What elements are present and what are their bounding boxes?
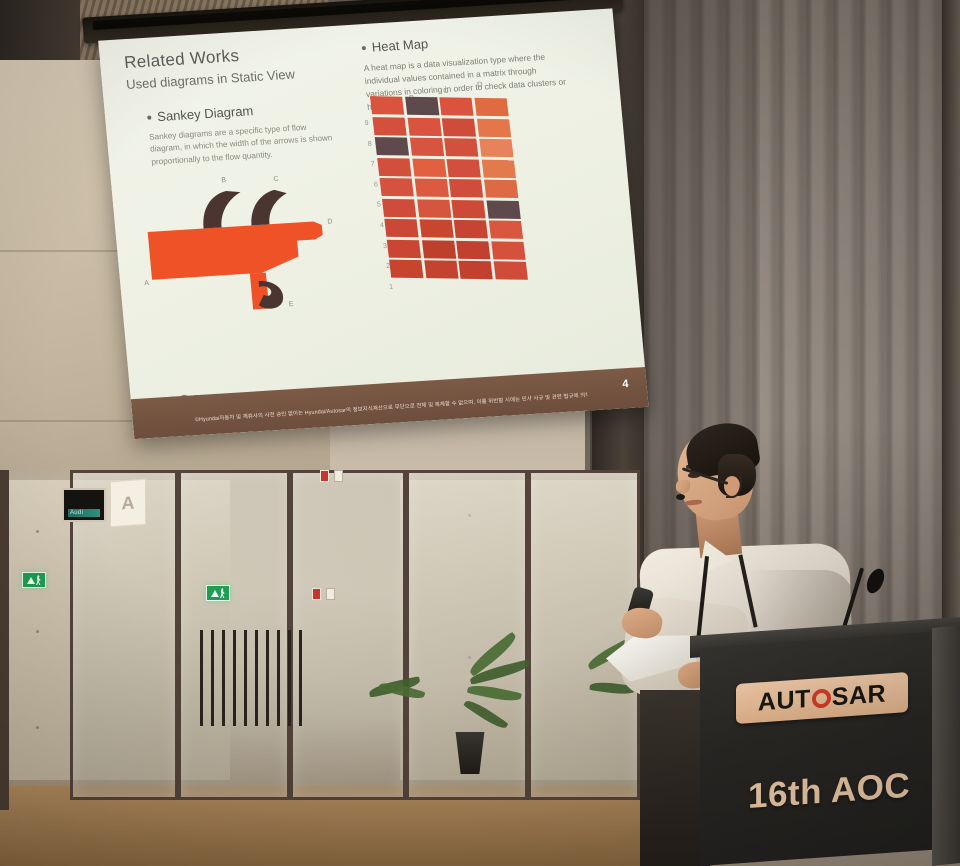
exit-arrow-icon — [211, 590, 219, 597]
heatmap-cell — [454, 220, 488, 238]
podium-logo-text: AUT SAR — [758, 679, 886, 717]
sankey-node-b-label: B — [221, 177, 226, 184]
running-man-icon — [36, 575, 41, 585]
podium-logo-ring-icon — [812, 688, 831, 708]
podium-side-panel — [932, 625, 960, 866]
heatmap-cell — [442, 118, 476, 136]
sankey-node-e-label: E — [289, 301, 294, 308]
running-man-icon — [220, 588, 225, 598]
heatmap-cell — [414, 178, 448, 196]
monitor-label: Audi — [68, 509, 100, 517]
heatmap-cell — [493, 261, 527, 279]
sankey-node-d-label: D — [327, 218, 333, 225]
heatmap-cell — [382, 198, 416, 216]
slide-copyright-text: ©Hyundai자동차 및 제휴사의 사전 승인 없이는 Hyundai/Aut… — [194, 391, 587, 424]
sankey-heading-label: Sankey Diagram — [157, 103, 254, 124]
heatmap-cell — [380, 178, 414, 196]
heatmap-cell — [372, 117, 406, 135]
heatmap-cell — [377, 158, 411, 176]
heatmap-cell — [481, 159, 515, 177]
heatmap-row-label: 9 — [364, 120, 369, 127]
heatmap-row-label: 8 — [367, 140, 372, 147]
concrete-tie-hole — [36, 530, 39, 533]
sankey-branch-b — [200, 190, 243, 228]
heatmap-cell — [370, 96, 404, 114]
heatmap-cell — [439, 97, 473, 115]
heatmap-cell — [389, 260, 423, 278]
heatmap-cell — [444, 138, 478, 156]
heatmap-cell — [407, 117, 441, 135]
fire-alarm-box — [312, 588, 321, 600]
lobby-area — [0, 470, 640, 866]
podium-logo-right: SAR — [832, 679, 886, 712]
heatmap-cell — [479, 139, 513, 157]
heatmap-row-label: 6 — [374, 181, 379, 188]
heatmap-heading-label: Heat Map — [371, 36, 429, 54]
wall-switch-box — [334, 470, 343, 482]
podium-logo-left: AUT — [758, 684, 811, 717]
heatmap-row-label: 4 — [380, 222, 385, 229]
bullet-icon — [147, 115, 151, 119]
heatmap-cell — [484, 180, 518, 198]
heatmap-cell — [449, 179, 483, 197]
slide-title: Related Works — [123, 46, 240, 73]
heatmap-column-label: C — [443, 86, 449, 95]
headset-mic-capsule-icon — [676, 494, 685, 500]
heatmap-cell — [486, 200, 520, 218]
slide-footer-bar: ©Hyundai자동차 및 제휴사의 사전 승인 없이는 Hyundai/Aut… — [131, 367, 649, 439]
emergency-exit-sign — [22, 572, 46, 588]
presentation-photo: Audi A Related Works Used diagrams in St… — [0, 0, 960, 866]
heatmap-cell — [491, 241, 525, 259]
heatmap-cell — [488, 220, 522, 238]
emergency-exit-sign — [206, 585, 230, 601]
presentation-slide: Related Works Used diagrams in Static Vi… — [98, 8, 648, 439]
heatmap-heading: Heat Map — [361, 36, 429, 55]
heatmap-cell — [474, 98, 508, 116]
heatmap-cell — [384, 219, 418, 237]
heatmap-row-label: 1 — [389, 283, 394, 290]
heatmap-cell — [417, 199, 451, 217]
heatmap-cell — [421, 240, 455, 258]
heatmap-cell — [456, 240, 490, 258]
heatmap-cell — [419, 219, 453, 237]
presenter-nose — [676, 480, 690, 493]
heatmap-cell — [424, 260, 458, 278]
sankey-heading: Sankey Diagram — [147, 103, 254, 125]
concrete-tie-hole — [36, 726, 39, 729]
sankey-branch-c — [248, 189, 289, 225]
fire-alarm-box — [320, 470, 329, 482]
bullet-icon — [362, 45, 366, 49]
slide-page-number: 4 — [622, 378, 629, 390]
heatmap-cell — [412, 158, 446, 176]
info-monitor: Audi — [62, 488, 106, 522]
sankey-diagram: A B C D E — [142, 175, 369, 323]
projection-screen: Related Works Used diagrams in Static Vi… — [78, 0, 659, 476]
sankey-svg — [142, 175, 369, 323]
heatmap-cell — [476, 118, 510, 136]
heatmap-cell — [405, 97, 439, 115]
heatmap-grid — [370, 96, 527, 280]
heatmap-cell — [387, 239, 421, 257]
interior-railing — [200, 630, 310, 726]
heatmap-cell — [458, 261, 492, 279]
sankey-node-c-label: C — [273, 176, 279, 183]
window-mullion — [0, 470, 9, 810]
wall-switch-box — [326, 588, 335, 600]
heatmap-cell — [375, 137, 409, 155]
sankey-node-a-label: A — [144, 280, 149, 287]
podium-front-panel — [700, 630, 960, 866]
hall-a-sign: A — [110, 479, 146, 528]
right-wall-edge — [942, 0, 960, 700]
heatmap-row-label: 7 — [371, 161, 376, 168]
heatmap-row-label: 5 — [377, 202, 382, 209]
heatmap-cell — [409, 138, 443, 156]
concrete-tie-hole — [36, 630, 39, 633]
exit-arrow-icon — [27, 577, 35, 584]
heatmap-cell — [446, 159, 480, 177]
sankey-body-text: Sankey diagrams are a specific type of f… — [149, 120, 342, 169]
heatmap-cell — [451, 199, 485, 217]
heatmap-column-label: D — [477, 79, 483, 88]
